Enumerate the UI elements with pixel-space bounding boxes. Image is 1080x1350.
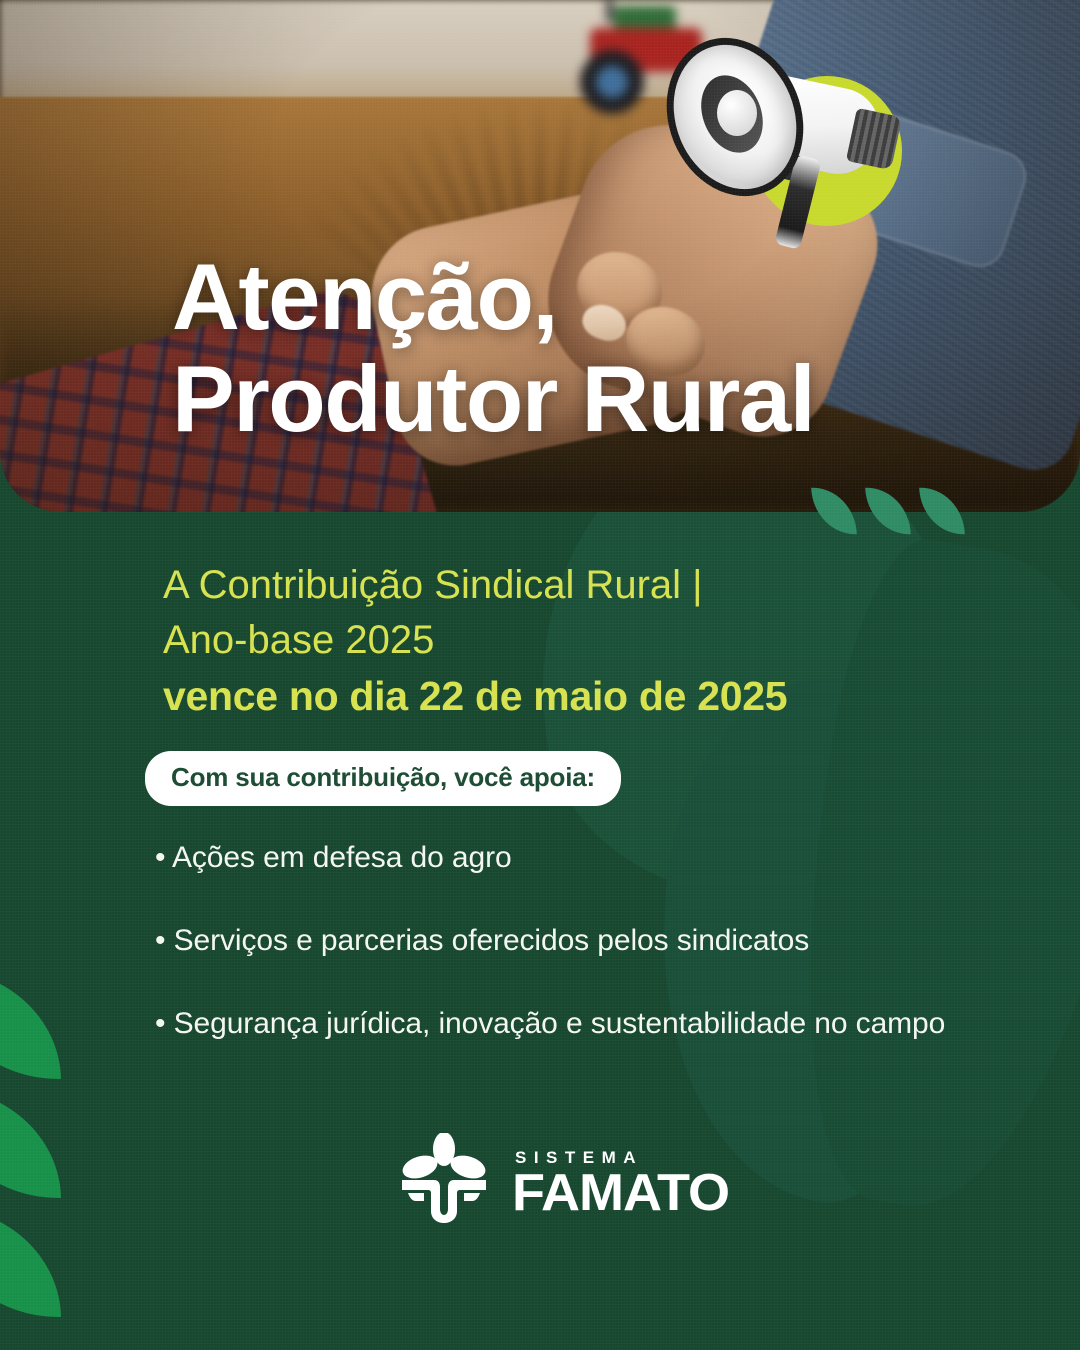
left-leaf-accents xyxy=(0,968,60,1325)
list-item: • Segurança jurídica, inovação e sustent… xyxy=(155,1006,1035,1042)
logo-wordmark: SISTEMA FAMATO xyxy=(512,1148,721,1218)
leaf-icon xyxy=(811,486,857,536)
plant-bull-icon xyxy=(398,1133,490,1233)
megaphone-icon xyxy=(665,28,895,258)
leaf-accent-row xyxy=(812,487,964,535)
leaf-icon xyxy=(0,967,61,1081)
leaf-icon xyxy=(865,486,911,536)
subtitle-due-date: vence no dia 22 de maio de 2025 xyxy=(163,673,787,720)
logo-famato-text: FAMATO xyxy=(512,1169,729,1218)
list-item: • Serviços e parcerias oferecidos pelos … xyxy=(155,923,1035,959)
benefit-list: • Ações em defesa do agro • Serviços e p… xyxy=(155,840,1035,1089)
list-item: • Ações em defesa do agro xyxy=(155,840,1035,876)
poster-root: Atenção, Produtor Rural A Contribuição S… xyxy=(0,0,1080,1350)
famato-logo: SISTEMA FAMATO xyxy=(398,1133,721,1233)
page-title: Atenção, Produtor Rural xyxy=(172,246,992,449)
leaf-icon xyxy=(919,486,965,536)
leaf-icon xyxy=(0,1086,61,1200)
leaf-icon xyxy=(0,1205,61,1319)
support-badge: Com sua contribuição, você apoia: xyxy=(145,751,621,806)
subtitle-regular: A Contribuição Sindical Rural | Ano-base… xyxy=(163,558,963,668)
